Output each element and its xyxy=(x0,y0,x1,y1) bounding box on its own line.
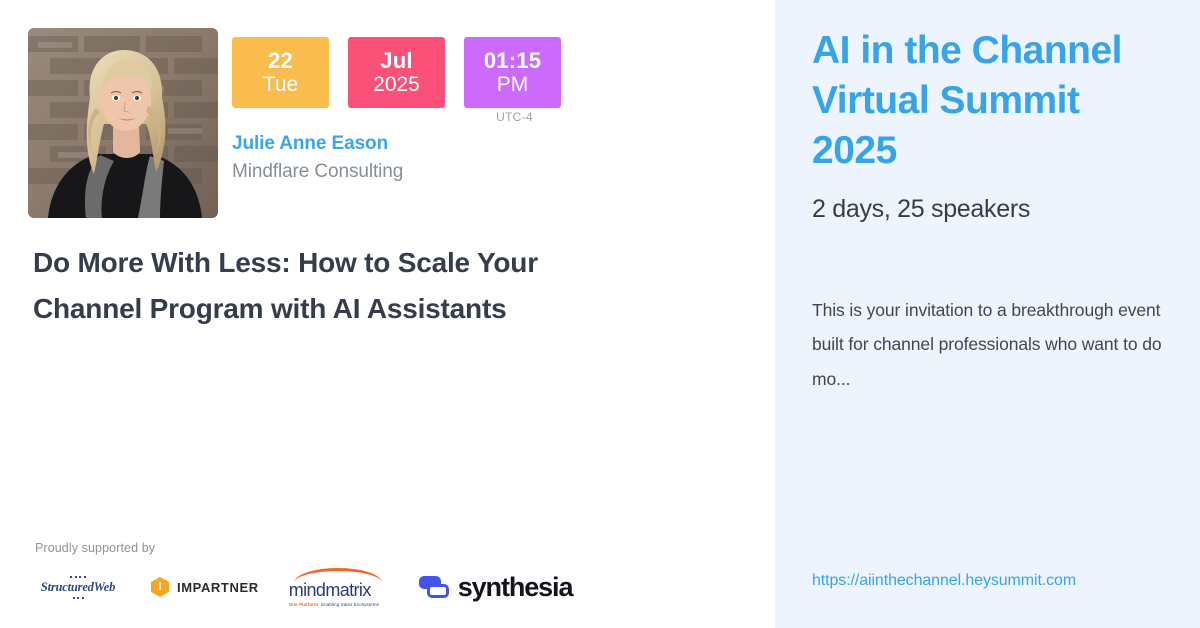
sponsor-logo-structuredweb[interactable]: StructuredWeb xyxy=(35,576,121,599)
session-timezone: UTC-4 xyxy=(466,110,563,124)
event-subtitle: 2 days, 25 speakers xyxy=(812,195,1166,224)
date-time-box: 01:15 PM xyxy=(464,37,561,108)
mindmatrix-tagline: One Platform: Enabling Sales Ecosystems xyxy=(289,602,379,607)
structuredweb-dots-bottom xyxy=(73,597,84,599)
sponsor-logo-mindmatrix[interactable]: mindmatrix One Platform: Enabling Sales … xyxy=(289,568,389,607)
session-meridiem: PM xyxy=(497,74,529,96)
event-url-link[interactable]: https://aiinthechannel.heysummit.com xyxy=(812,572,1076,590)
event-title: AI in the Channel Virtual Summit 2025 xyxy=(812,26,1166,176)
date-time-row: 22 Tue Jul 2025 01:15 PM xyxy=(232,37,561,108)
session-panel: 22 Tue Jul 2025 01:15 PM Julie Anne Easo… xyxy=(0,0,775,628)
date-day-number: 22 xyxy=(268,49,293,72)
date-day-box: 22 Tue xyxy=(232,37,329,108)
speaker-avatar xyxy=(28,28,218,218)
session-time: 01:15 xyxy=(484,49,541,72)
synthesia-wordmark: synthesia xyxy=(458,572,573,603)
event-panel: AI in the Channel Virtual Summit 2025 2 … xyxy=(775,0,1200,628)
mindmatrix-wordmark: mindmatrix xyxy=(289,580,371,601)
mindmatrix-tagline-bold: One Platform: xyxy=(289,602,320,607)
impartner-wordmark: IMPARTNER xyxy=(177,580,259,595)
speaker-name[interactable]: Julie Anne Eason xyxy=(232,133,561,155)
impartner-hexagon-icon: I xyxy=(151,577,169,597)
sponsor-logo-row: StructuredWeb I IMPARTNER mindmatrix One… xyxy=(35,568,735,606)
synthesia-mark-icon xyxy=(419,576,449,598)
mindmatrix-tagline-rest: Enabling Sales Ecosystems xyxy=(320,602,379,607)
session-title: Do More With Less: How to Scale Your Cha… xyxy=(33,240,573,331)
date-month-box: Jul 2025 xyxy=(348,37,445,108)
sponsors-section: Proudly supported by StructuredWeb I IMP… xyxy=(35,541,735,606)
speaker-organization: Mindflare Consulting xyxy=(232,161,561,183)
event-promo-card: 22 Tue Jul 2025 01:15 PM Julie Anne Easo… xyxy=(0,0,1200,628)
date-month: Jul xyxy=(380,49,412,72)
sponsor-logo-impartner[interactable]: I IMPARTNER xyxy=(151,577,259,597)
structuredweb-wordmark: StructuredWeb xyxy=(41,580,115,595)
date-year: 2025 xyxy=(373,74,420,96)
session-meta: 22 Tue Jul 2025 01:15 PM Julie Anne Easo… xyxy=(232,28,561,183)
sponsors-label: Proudly supported by xyxy=(35,541,735,555)
event-description: This is your invitation to a breakthroug… xyxy=(812,293,1166,396)
date-day-name: Tue xyxy=(263,74,298,96)
structuredweb-dots-top xyxy=(70,576,86,578)
sponsor-logo-synthesia[interactable]: synthesia xyxy=(419,572,573,603)
